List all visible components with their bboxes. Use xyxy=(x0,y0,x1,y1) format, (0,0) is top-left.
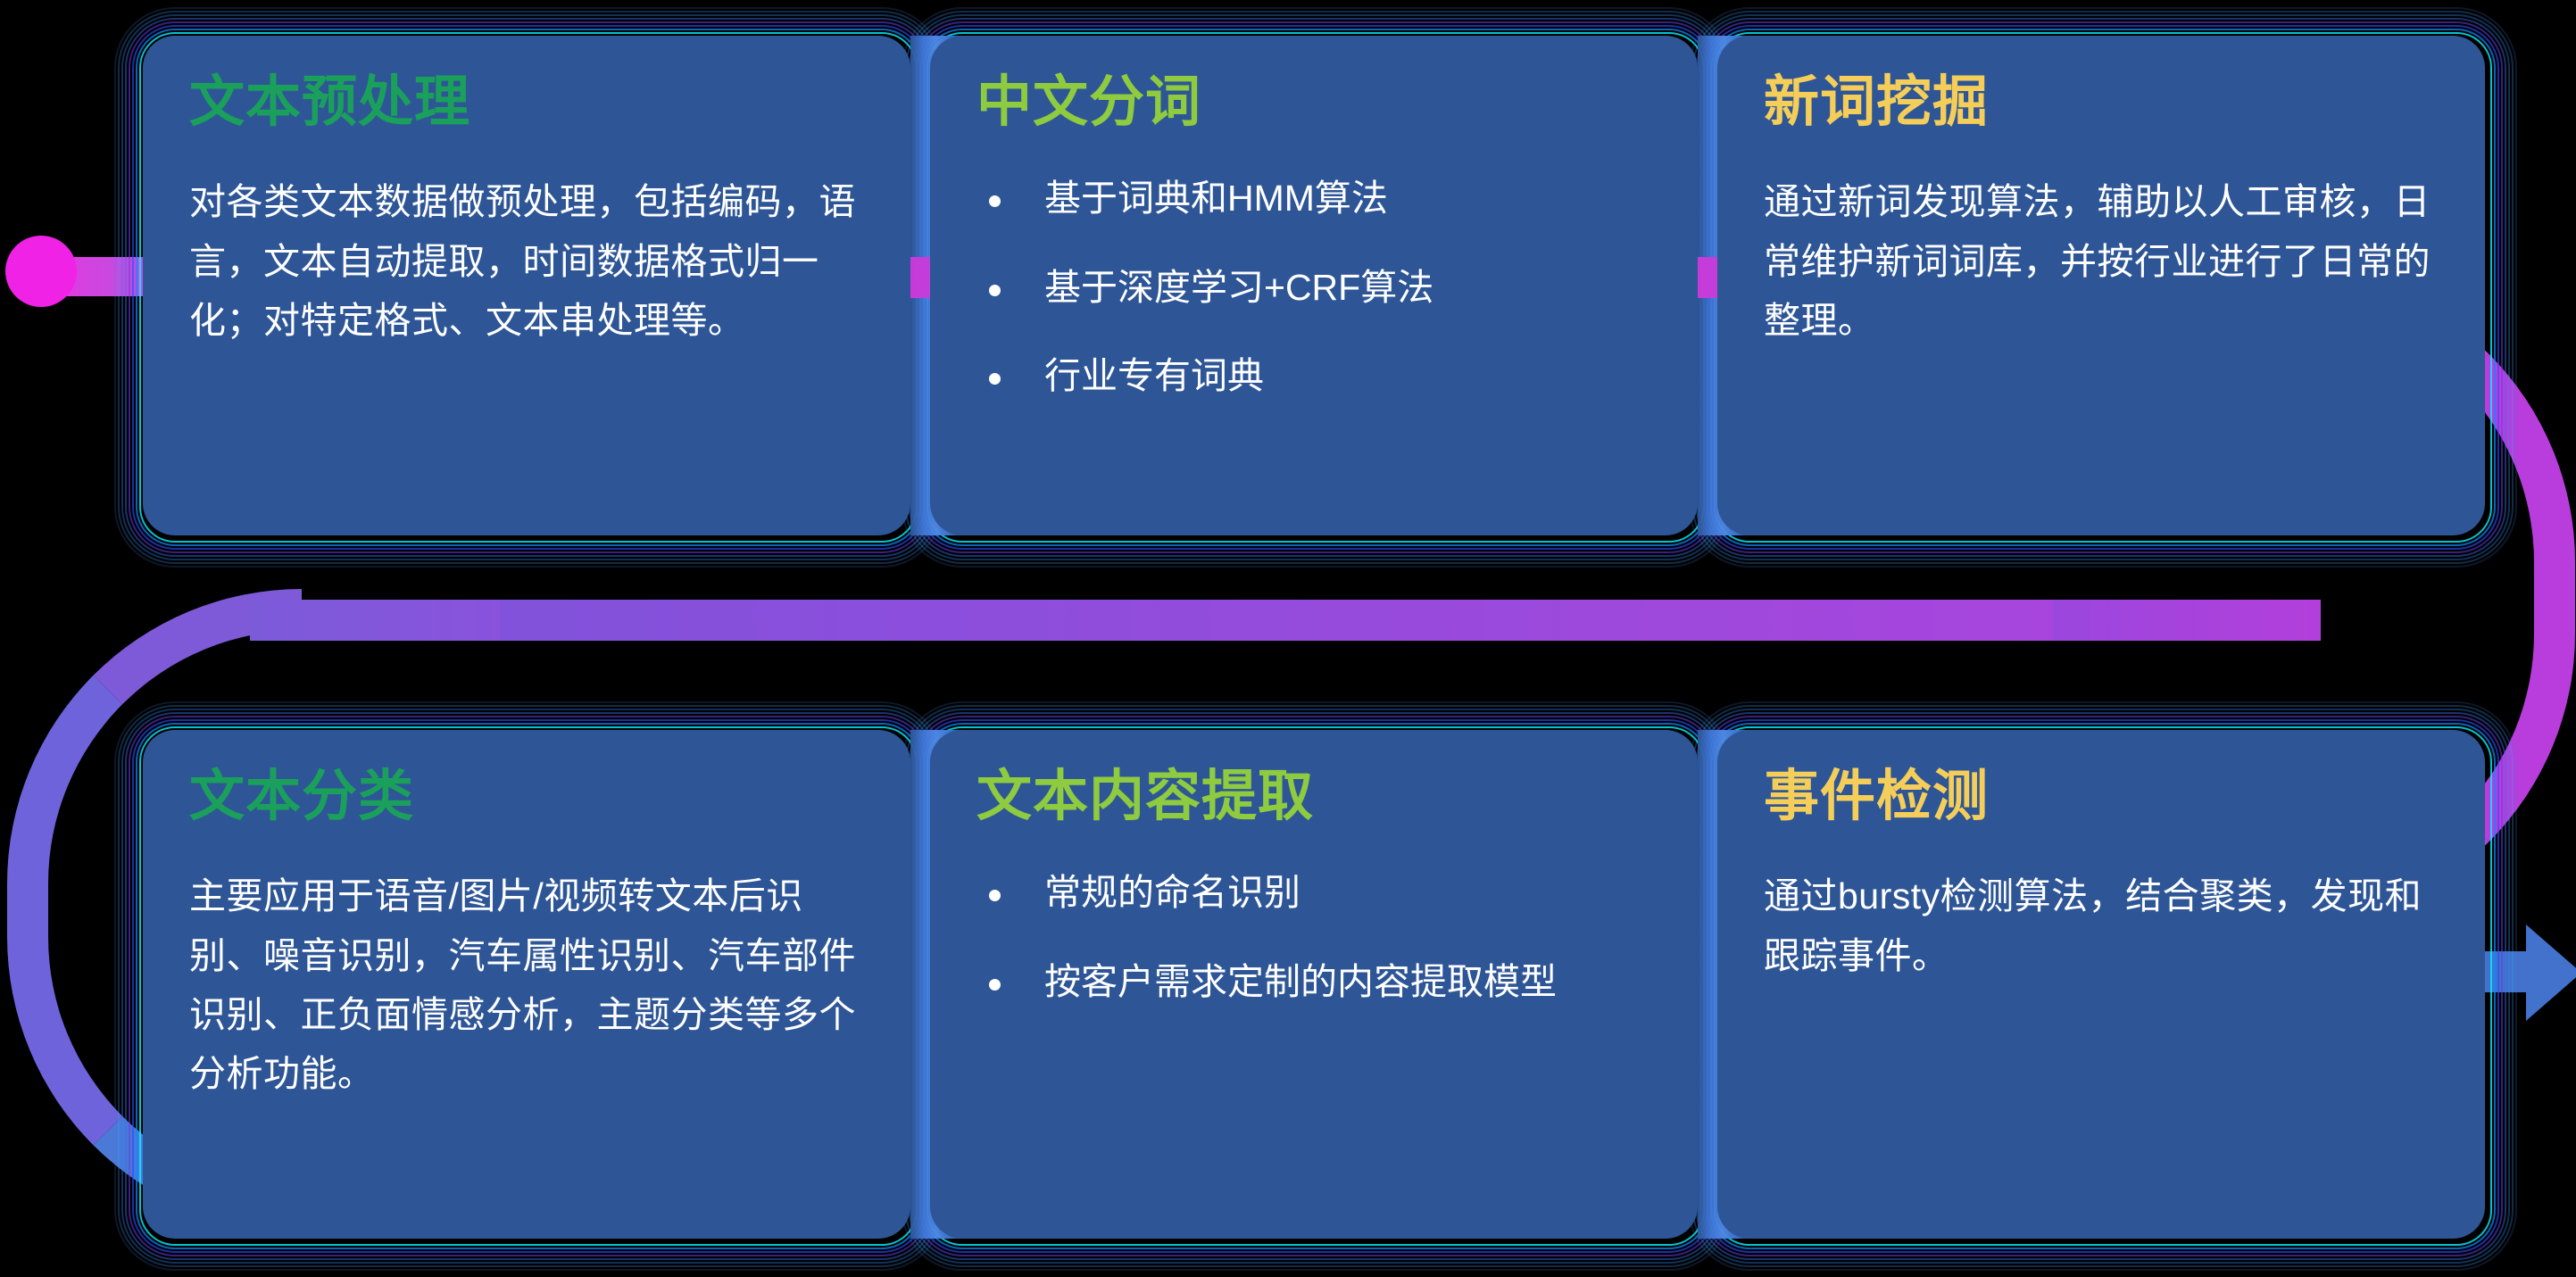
card-title: 新词挖掘 xyxy=(1764,73,2439,131)
card-body-text: 通过bursty检测算法，结合聚类，发现和跟踪事件。 xyxy=(1764,867,2439,985)
card-2[interactable]: 中文分词基于词典和HMM算法基于深度学习+CRF算法行业专有词典 xyxy=(930,36,1698,535)
bullet-dot-icon xyxy=(989,373,1001,385)
bullet-label: 基于深度学习+CRF算法 xyxy=(1044,267,1433,308)
card-body-text: 通过新词发现算法，辅助以人工审核，日常维护新词词库，并按行业进行了日常的整理。 xyxy=(1764,172,2439,350)
flow-start-dot xyxy=(5,236,77,307)
card-title: 文本内容提取 xyxy=(976,767,1651,825)
bullet-label: 行业专有词典 xyxy=(1044,355,1264,396)
flow-bar-right xyxy=(2053,600,2321,641)
card-title: 中文分词 xyxy=(976,73,1651,131)
list-item: 行业专有词典 xyxy=(976,350,1651,402)
bullet-dot-icon xyxy=(989,195,1001,207)
card-bullet-list: 基于词典和HMM算法基于深度学习+CRF算法行业专有词典 xyxy=(976,172,1651,402)
card-4[interactable]: 文本分类主要应用于语音/图片/视频转文本后识别、噪音识别，汽车属性识别、汽车部件… xyxy=(143,730,910,1239)
flow-bar-middle xyxy=(500,600,2071,641)
card-title: 文本预处理 xyxy=(189,73,864,131)
list-item: 常规的命名识别 xyxy=(976,867,1651,919)
card-body-text: 对各类文本数据做预处理，包括编码，语言，文本自动提取，时间数据格式归一化；对特定… xyxy=(189,172,864,350)
bullet-dot-icon xyxy=(989,979,1001,991)
list-item: 按客户需求定制的内容提取模型 xyxy=(976,956,1651,1008)
list-item: 基于深度学习+CRF算法 xyxy=(976,261,1651,314)
bullet-label: 常规的命名识别 xyxy=(1044,872,1300,913)
bullet-label: 按客户需求定制的内容提取模型 xyxy=(1044,961,1557,1002)
card-3[interactable]: 新词挖掘通过新词发现算法，辅助以人工审核，日常维护新词词库，并按行业进行了日常的… xyxy=(1717,36,2485,535)
flow-bar-left xyxy=(250,600,518,641)
card-bullet-list: 常规的命名识别按客户需求定制的内容提取模型 xyxy=(976,867,1651,1008)
card-6[interactable]: 事件检测通过bursty检测算法，结合聚类，发现和跟踪事件。 xyxy=(1717,730,2485,1239)
card-title: 文本分类 xyxy=(189,767,864,825)
arrow-right-icon xyxy=(2526,925,2576,1021)
bullet-dot-icon xyxy=(989,285,1001,296)
card-body-text: 主要应用于语音/图片/视频转文本后识别、噪音识别，汽车属性识别、汽车部件识别、正… xyxy=(189,867,864,1104)
card-1[interactable]: 文本预处理对各类文本数据做预处理，包括编码，语言，文本自动提取，时间数据格式归一… xyxy=(143,36,910,535)
infographic-canvas: 文本预处理对各类文本数据做预处理，包括编码，语言，文本自动提取，时间数据格式归一… xyxy=(0,0,2576,1277)
card-title: 事件检测 xyxy=(1764,767,2439,825)
card-5[interactable]: 文本内容提取常规的命名识别按客户需求定制的内容提取模型 xyxy=(930,730,1698,1239)
bullet-label: 基于词典和HMM算法 xyxy=(1044,178,1388,219)
bullet-dot-icon xyxy=(989,890,1001,901)
list-item: 基于词典和HMM算法 xyxy=(976,172,1651,225)
